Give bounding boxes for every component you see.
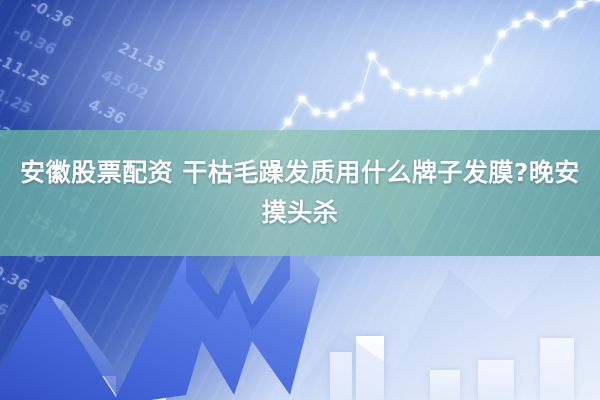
headline-text-block: 安徽股票配资 干枯毛躁发质用什么牌子发膜?晚安 摸头杀 bbox=[0, 130, 600, 256]
headline-line-2: 摸头杀 bbox=[262, 195, 339, 231]
headline-line-1: 安徽股票配资 干枯毛躁发质用什么牌子发膜?晚安 bbox=[20, 155, 580, 191]
blue-arrow-ribbon bbox=[0, 245, 390, 400]
promo-banner: -0.36-0.36-0.3621.15 -0.36-0.36-0.3645.0… bbox=[0, 0, 600, 400]
